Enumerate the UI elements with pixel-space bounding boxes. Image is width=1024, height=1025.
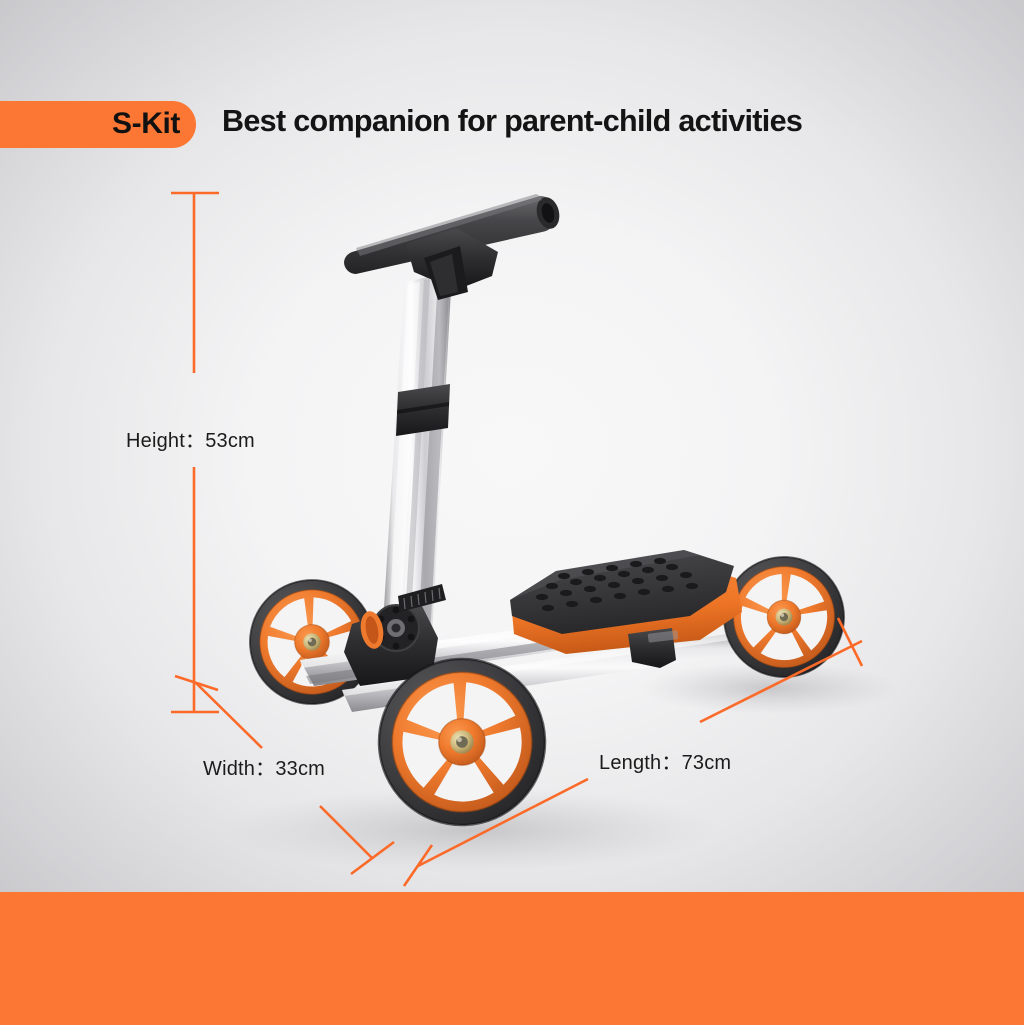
stem-collar <box>396 384 450 436</box>
dimension-label-length: Length：73cm <box>599 746 731 775</box>
dimension-label-width: Width：33cm <box>203 752 325 781</box>
infographic-page: S-Kit Best companion for parent-child ac… <box>0 0 1024 1025</box>
wheel-rear-right <box>721 554 847 680</box>
handlebar <box>344 194 563 300</box>
headline: Best companion for parent-child activiti… <box>222 103 802 139</box>
dimension-label-height: Height：53cm <box>126 424 255 453</box>
footer-bar <box>0 892 1024 1025</box>
brand-label: S-Kit <box>112 107 180 141</box>
